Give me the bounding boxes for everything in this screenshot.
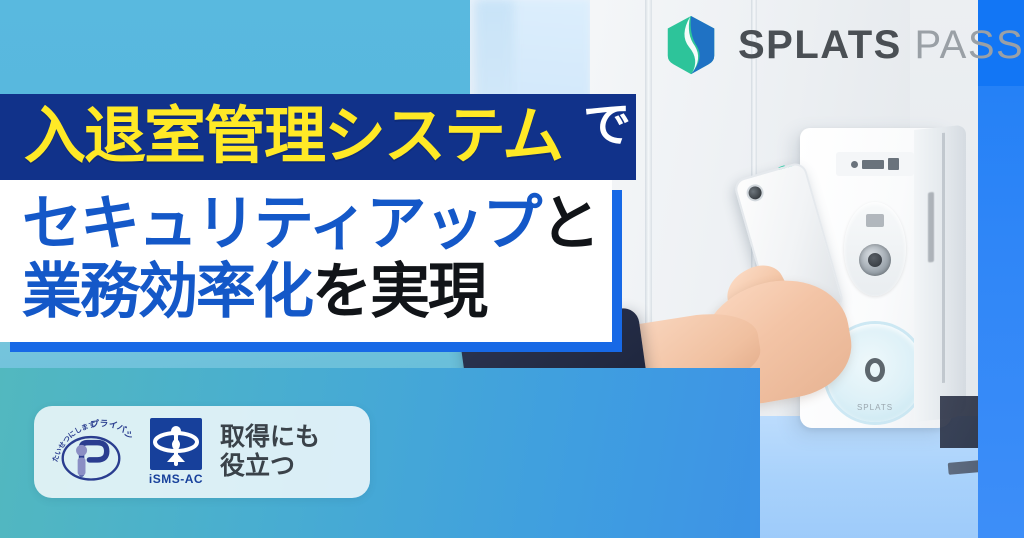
- reader-label-bar-icon: [862, 160, 884, 169]
- reader-circle-label: SPLATS: [826, 403, 924, 412]
- svg-text:プライバシー: プライバシー: [50, 419, 132, 442]
- headline-line1-highlight: 入退室管理システム: [0, 106, 562, 168]
- phone-camera-icon: [747, 185, 763, 201]
- brand-name-primary: SPLATS: [738, 23, 902, 67]
- isms-ac-mark-icon: [150, 418, 202, 470]
- reader-side-face: [914, 125, 966, 422]
- headline-line2-plain: と: [540, 190, 598, 257]
- reader-side-label: [928, 192, 934, 263]
- reader-sensor-housing: [844, 202, 906, 296]
- certification-badge: たいせつにします プライバシー iSMS-AC 取得にも 役立つ: [34, 406, 370, 498]
- banner-canvas: SPLATS: [0, 0, 1024, 538]
- reader-label-card-icon: [888, 158, 899, 170]
- splats-leaf-logo-icon: [660, 14, 722, 76]
- badge-text-line1: 取得にも: [220, 423, 320, 453]
- badge-text: 取得にも 役立つ: [220, 423, 320, 482]
- headline-line3-plain: を実現: [312, 258, 486, 325]
- headline-line2: セキュリティアップと: [22, 190, 612, 258]
- headline-line2-accent: セキュリティアップ: [22, 190, 540, 257]
- headline-line3: 業務効率化を実現: [22, 258, 612, 326]
- isms-ac-logo: iSMS-AC: [146, 418, 206, 486]
- reader-label-dot-icon: [851, 161, 858, 168]
- badge-text-line2: 役立つ: [220, 452, 320, 482]
- headline: 入退室管理システム で セキュリティアップと 業務効率化を実現: [0, 94, 636, 342]
- brand-logo[interactable]: SPLATS PASS: [660, 14, 1024, 76]
- brand-name-secondary: PASS: [914, 23, 1024, 67]
- headline-line3-accent: 業務効率化: [22, 258, 312, 325]
- privacy-mark-logo-icon: たいせつにします プライバシー: [50, 419, 132, 485]
- reader-lens-icon: [859, 244, 891, 276]
- headline-line1-suffix: で: [583, 102, 631, 150]
- brand-name: SPLATS PASS: [738, 25, 1024, 65]
- reader-top-label: [836, 152, 914, 176]
- reader-ring-icon: [865, 358, 885, 382]
- headline-band-line1: 入退室管理システム で: [0, 94, 636, 180]
- reader-side-slot: [942, 133, 945, 383]
- isms-ac-label: iSMS-AC: [146, 472, 206, 486]
- right-blue-band: [978, 0, 1024, 538]
- headline-white-block: セキュリティアップと 業務効率化を実現: [0, 180, 612, 342]
- reader-tag-icon: [866, 214, 884, 227]
